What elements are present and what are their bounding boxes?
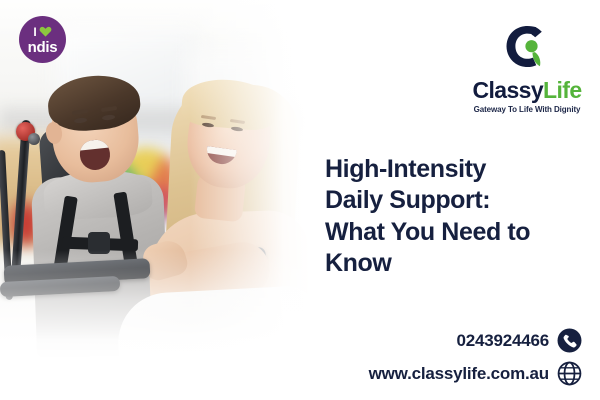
brand-wordmark: ClassyLife xyxy=(466,79,588,102)
contact-phone-number[interactable]: 0243924466 xyxy=(456,331,549,351)
contact-website-row[interactable]: www.classylife.com.au xyxy=(369,361,582,386)
ndis-logo-i: I xyxy=(33,26,36,38)
headline-line-4: Know xyxy=(325,248,585,280)
headline-line-2: Daily Support: xyxy=(325,185,585,217)
phone-icon xyxy=(557,328,582,353)
heart-icon xyxy=(39,25,52,39)
ndis-logo: I ndis xyxy=(19,16,66,63)
ndis-logo-word: ndis xyxy=(28,40,58,55)
classy-life-mark-icon xyxy=(466,24,588,77)
wheelchair-bolt xyxy=(28,133,40,145)
brand-tagline: Gateway To Life With Dignity xyxy=(466,105,588,114)
brand-wordmark-classy: Classy xyxy=(472,77,543,103)
brand-logo: ClassyLife Gateway To Life With Dignity xyxy=(466,24,588,114)
contact-website-url[interactable]: www.classylife.com.au xyxy=(369,364,549,384)
contact-phone-row[interactable]: 0243924466 xyxy=(369,328,582,353)
contact-footer: 0243924466 www.classylife.com.au xyxy=(369,328,582,386)
brand-wordmark-life: Life xyxy=(543,77,582,103)
wheelchair-harness-buckle xyxy=(88,232,110,254)
ndis-logo-top-row: I xyxy=(33,25,51,39)
boy-teeth xyxy=(79,139,110,151)
headline-line-3: What You Need to xyxy=(325,217,585,249)
globe-icon xyxy=(557,361,582,386)
headline-line-1: High-Intensity xyxy=(325,154,585,186)
promotional-banner: I ndis ClassyLife Gateway To Life With D… xyxy=(0,0,600,400)
page-title: High-Intensity Daily Support: What You N… xyxy=(325,154,585,280)
